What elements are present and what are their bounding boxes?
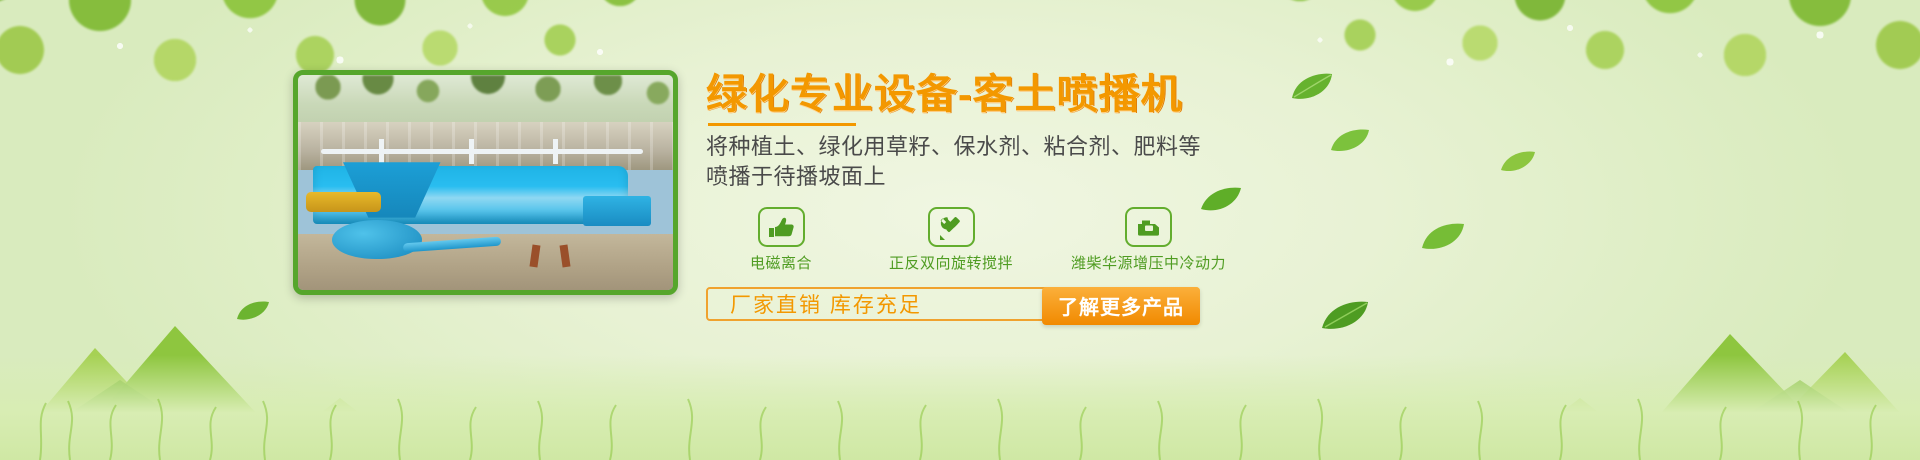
- cta-bar: 厂家直销 库存充足 了解更多产品: [706, 287, 1200, 321]
- cta-slogan: 厂家直销 库存充足: [708, 289, 922, 319]
- machine-yellow-unit: [306, 192, 381, 212]
- banner-content: 绿化专业设备-客土喷播机 将种植土、绿化用草籽、保水剂、粘合剂、肥料等 喷播于待…: [706, 72, 1346, 321]
- engine-icon: [1125, 207, 1172, 247]
- description-line-1: 将种植土、绿化用草籽、保水剂、粘合剂、肥料等: [706, 132, 1346, 161]
- grass-strip-decoration: [0, 355, 1920, 460]
- floating-leaf-icon: [1420, 222, 1466, 252]
- feature-label: 潍柴华源增压中冷动力: [1046, 252, 1251, 273]
- photo-trees: [298, 75, 673, 127]
- photo-machine: [298, 152, 673, 251]
- feature-item-engine: 潍柴华源增压中冷动力: [1046, 207, 1251, 273]
- feature-item-clutch: 电磁离合: [706, 207, 856, 273]
- feature-label: 电磁离合: [706, 252, 856, 273]
- machine-railing: [321, 139, 644, 165]
- machine-control-box: [583, 196, 651, 226]
- title-underline-rule: [708, 123, 856, 126]
- floating-leaf-icon: [1500, 150, 1536, 174]
- promo-banner: 绿化专业设备-客土喷播机 将种植土、绿化用草籽、保水剂、粘合剂、肥料等 喷播于待…: [0, 0, 1920, 460]
- description-line-2: 喷播于待播坡面上: [706, 162, 1346, 191]
- feature-label: 正反双向旋转搅拌: [856, 252, 1046, 273]
- product-photo-content: [298, 75, 673, 290]
- page-title: 绿化专业设备-客土喷播机: [706, 72, 1346, 116]
- feature-item-mixing: 正反双向旋转搅拌: [856, 207, 1046, 273]
- learn-more-button[interactable]: 了解更多产品: [1042, 287, 1200, 325]
- thumbs-up-icon: [758, 207, 805, 247]
- machine-pump: [332, 220, 422, 260]
- product-photo[interactable]: [293, 70, 678, 295]
- floating-leaf-icon: [236, 300, 270, 322]
- feature-list: 电磁离合 正反双向旋转搅拌: [706, 207, 1346, 273]
- wrench-screwdriver-icon: [928, 207, 975, 247]
